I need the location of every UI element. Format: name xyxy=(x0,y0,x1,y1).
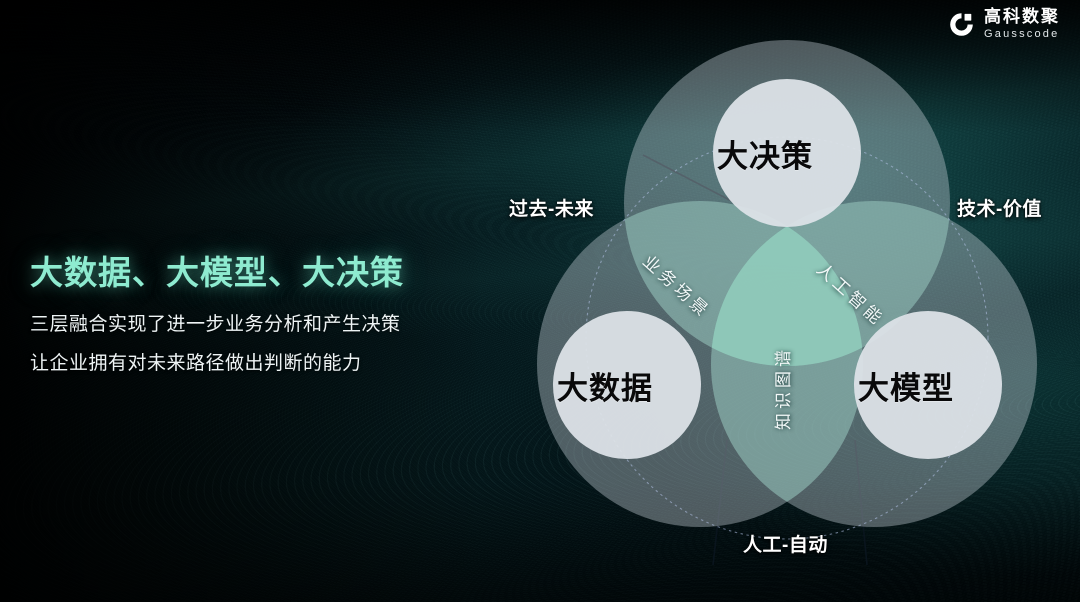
left-copy-block: 大数据、大模型、大决策 三层融合实现了进一步业务分析和产生决策 让企业拥有对未来… xyxy=(30,252,470,375)
page-title: 大数据、大模型、大决策 xyxy=(30,252,470,293)
core-label-bigmodel: 大模型 xyxy=(858,363,954,408)
core-label-decision: 大决策 xyxy=(717,131,813,176)
venn-svg xyxy=(495,20,1080,602)
brand-name-en: Gausscode xyxy=(984,29,1060,40)
brand-logo: 高科数聚 Gausscode xyxy=(948,8,1060,40)
subtitle-line-1: 三层融合实现了进一步业务分析和产生决策 xyxy=(30,314,470,336)
axis-label-tech-value: 技术-价值 xyxy=(957,194,1042,221)
subtitle-line-2: 让企业拥有对未来路径做出判断的能力 xyxy=(30,353,470,375)
venn-diagram: 大决策 大数据 大模型 业务场景 人工智能 知识图谱 xyxy=(495,20,1080,602)
gausscode-g-mark-icon xyxy=(948,11,975,38)
axis-label-past-future: 过去-未来 xyxy=(509,194,594,221)
lens-label-knowledge-graph: 知识图谱 xyxy=(769,346,794,430)
core-label-bigdata: 大数据 xyxy=(557,363,653,408)
axis-label-manual-auto: 人工-自动 xyxy=(743,530,828,557)
brand-logo-text: 高科数聚 Gausscode xyxy=(984,8,1060,40)
brand-name-cn: 高科数聚 xyxy=(984,8,1060,25)
slide-canvas: 大数据、大模型、大决策 三层融合实现了进一步业务分析和产生决策 让企业拥有对未来… xyxy=(0,0,1080,602)
